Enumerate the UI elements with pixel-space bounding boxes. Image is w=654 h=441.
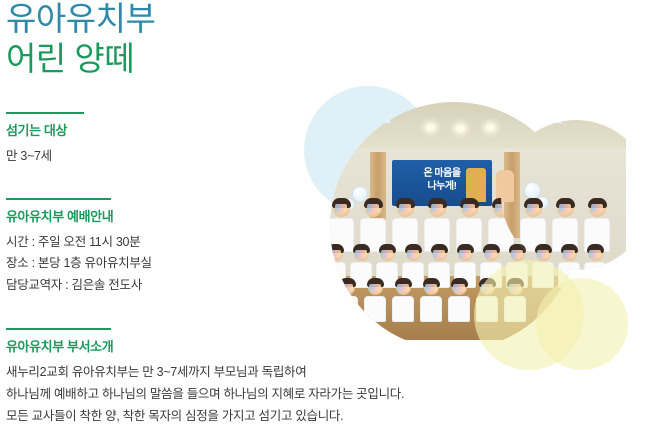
- ceiling-spotlight: [486, 124, 495, 131]
- page-title-line-2: 어린 양떼: [6, 42, 155, 76]
- child: [558, 246, 580, 270]
- page-title-line-1: 유아유치부: [6, 2, 155, 36]
- section-rule: [6, 112, 84, 114]
- intro-line-3: 모든 교사들이 착한 양, 착한 목자의 심정을 가지고 섬기고 있습니다.: [6, 406, 506, 428]
- section-rule: [6, 328, 111, 330]
- ceiling-spotlight: [456, 125, 465, 132]
- decorative-circle-yellow: [536, 278, 628, 370]
- child: [364, 280, 386, 322]
- page-root: 유아유치부 어린 양떼 섬기는 대상 만 3~7세 유아유치부 예배안내 시간 …: [0, 0, 654, 441]
- photo-scene: [501, 120, 626, 270]
- intro-line-2: 하나님께 예배하고 하나님의 말씀을 들으며 하나님의 지혜로 자라가는 곳입니…: [6, 384, 506, 406]
- ceiling-spotlight: [426, 124, 435, 131]
- page-title: 유아유치부 어린 양떼: [6, 2, 155, 75]
- section-rule: [6, 198, 111, 200]
- child: [584, 246, 606, 270]
- child: [448, 280, 470, 322]
- child: [336, 280, 358, 322]
- group-photo-circle-side: [501, 120, 651, 270]
- photo-collage: 온 마음을 나누게!: [296, 78, 654, 368]
- ceiling-light-panel: [346, 108, 394, 124]
- ceiling-light-panel: [522, 120, 566, 124]
- child: [392, 280, 414, 322]
- child: [420, 280, 442, 322]
